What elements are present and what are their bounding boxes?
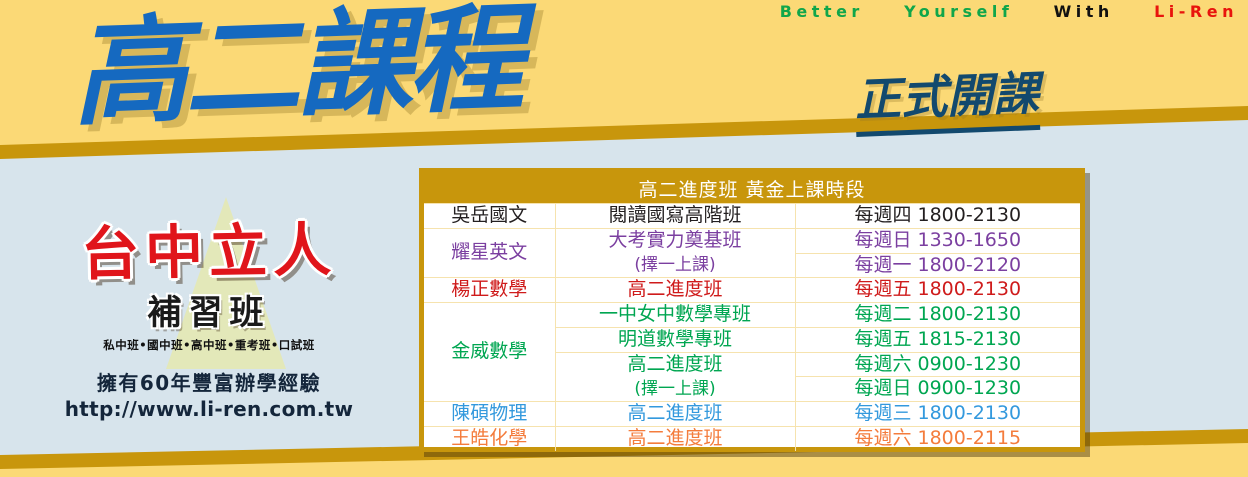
- logo-name-sub: 補習班: [44, 285, 374, 334]
- cell-teacher: 陳碩物理: [424, 402, 555, 427]
- cell-course: 高二進度班: [555, 426, 795, 450]
- cell-course: 一中女中數學專班: [555, 303, 795, 328]
- logo-website-url[interactable]: http://www.li-ren.com.tw: [44, 397, 374, 421]
- page-subtitle: 正式開課: [854, 57, 1041, 137]
- cell-time: 每週五 1800-2130: [795, 278, 1080, 303]
- cell-teacher: 吳岳國文: [424, 204, 555, 229]
- brand-tagline: Better Yourself With Li-Ren: [780, 2, 1238, 21]
- cell-time: 每週三 1800-2130: [795, 402, 1080, 427]
- table-row: 王皓化學高二進度班每週六 1800-2115: [424, 426, 1080, 450]
- page-title: 高二課程: [70, 0, 522, 136]
- cell-course: 明道數學專班: [555, 327, 795, 352]
- logo-experience-text: 擁有60年豐富辦學經驗: [44, 367, 374, 396]
- logo-name-main: 台中立人: [43, 202, 374, 292]
- tagline-word-1: Better: [780, 2, 864, 21]
- cell-time: 每週五 1815-2130: [795, 327, 1080, 352]
- cell-course: 閱讀國寫高階班: [555, 204, 795, 229]
- table-row: 金威數學一中女中數學專班每週二 1800-2130: [424, 303, 1080, 328]
- table-row: 耀星英文大考實力奠基班(擇一上課)每週日 1330-1650: [424, 228, 1080, 253]
- cell-time: 每週六 0900-1230: [795, 352, 1080, 377]
- cell-time: 每週日 0900-1230: [795, 377, 1080, 402]
- schedule-table: 高二進度班 黃金上課時段 吳岳國文閱讀國寫高階班每週四 1800-2130耀星英…: [424, 173, 1080, 451]
- table-row: 吳岳國文閱讀國寫高階班每週四 1800-2130: [424, 204, 1080, 229]
- table-header-title: 高二進度班 黃金上課時段: [424, 173, 1080, 204]
- cell-time: 每週四 1800-2130: [795, 204, 1080, 229]
- school-logo: 台中立人 補習班 私中班•國中班•高中班•重考班•口試班 擁有60年豐富辦學經驗…: [44, 205, 374, 421]
- cell-teacher: 金威數學: [424, 303, 555, 402]
- cell-teacher: 楊正數學: [424, 278, 555, 303]
- table-row: 陳碩物理高二進度班每週三 1800-2130: [424, 402, 1080, 427]
- schedule-table-container: 高二進度班 黃金上課時段 吳岳國文閱讀國寫高階班每週四 1800-2130耀星英…: [419, 168, 1085, 452]
- cell-time: 每週二 1800-2130: [795, 303, 1080, 328]
- tagline-word-3: With: [1054, 2, 1114, 21]
- table-header-row: 高二進度班 黃金上課時段: [424, 173, 1080, 204]
- cell-course: 大考實力奠基班(擇一上課): [555, 228, 795, 278]
- cell-time: 每週一 1800-2120: [795, 253, 1080, 278]
- table-row: 楊正數學高二進度班每週五 1800-2130: [424, 278, 1080, 303]
- cell-teacher: 王皓化學: [424, 426, 555, 450]
- tagline-word-4: Li-Ren: [1154, 2, 1238, 21]
- cell-course: 高二進度班: [555, 278, 795, 303]
- cell-teacher: 耀星英文: [424, 228, 555, 278]
- promo-banner: Better Yourself With Li-Ren 高二課程 正式開課 台中…: [0, 0, 1248, 477]
- cell-course: 高二進度班: [555, 402, 795, 427]
- tagline-word-2: Yourself: [904, 2, 1013, 21]
- cell-course: 高二進度班(擇一上課): [555, 352, 795, 402]
- cell-time: 每週日 1330-1650: [795, 228, 1080, 253]
- cell-time: 每週六 1800-2115: [795, 426, 1080, 450]
- logo-class-list: 私中班•國中班•高中班•重考班•口試班: [44, 337, 374, 353]
